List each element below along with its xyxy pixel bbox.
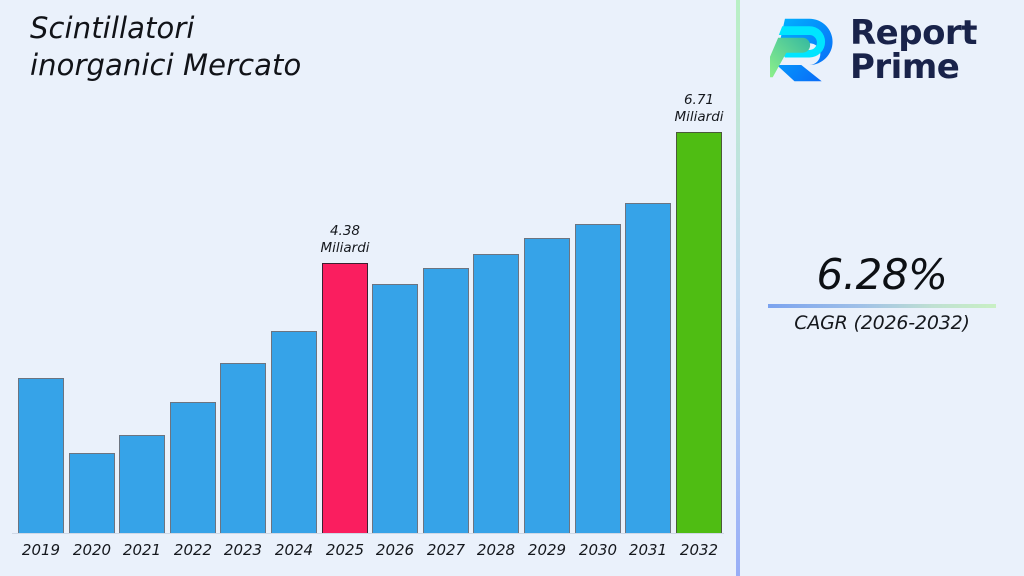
bar-2031[interactable] xyxy=(625,203,671,533)
bar-2024[interactable] xyxy=(271,331,317,533)
bar-2020[interactable] xyxy=(69,453,115,533)
cagr-divider xyxy=(768,304,996,308)
summary-panel: Report Prime 6.28% CAGR (2026-2032) xyxy=(740,0,1024,576)
x-tick-2032: 2032 xyxy=(676,541,722,559)
chart-panel: Scintillatori inorganici Mercato 2019202… xyxy=(0,0,738,576)
x-tick-2022: 2022 xyxy=(170,541,216,559)
report-prime-logo-icon xyxy=(770,14,838,86)
bar-2022[interactable] xyxy=(170,402,216,533)
cagr-block: 6.28% CAGR (2026-2032) xyxy=(760,252,1004,334)
x-tick-2028: 2028 xyxy=(473,541,519,559)
x-tick-2026: 2026 xyxy=(372,541,418,559)
cagr-caption: CAGR (2026-2032) xyxy=(760,312,1004,334)
x-tick-2030: 2030 xyxy=(575,541,621,559)
x-tick-2029: 2029 xyxy=(524,541,570,559)
bar-2028[interactable] xyxy=(473,254,519,533)
x-tick-2025: 2025 xyxy=(322,541,368,559)
x-tick-2021: 2021 xyxy=(119,541,165,559)
bar-chart-plot: 2019202020212022202320244.38 Miliardi202… xyxy=(0,0,738,576)
bar-2025[interactable] xyxy=(322,263,368,533)
bar-value-label-2032: 6.71 Miliardi xyxy=(674,92,723,126)
brand-logo: Report Prime xyxy=(770,14,977,86)
bar-2019[interactable] xyxy=(18,378,64,533)
x-tick-2024: 2024 xyxy=(271,541,317,559)
chart-infographic: Scintillatori inorganici Mercato 2019202… xyxy=(0,0,1024,576)
bar-2027[interactable] xyxy=(423,268,469,533)
x-axis-line xyxy=(12,533,724,534)
bar-2023[interactable] xyxy=(220,363,266,533)
bar-value-label-2025: 4.38 Miliardi xyxy=(320,223,369,257)
bar-2026[interactable] xyxy=(372,284,418,533)
bar-2029[interactable] xyxy=(524,238,570,533)
x-tick-2031: 2031 xyxy=(625,541,671,559)
x-tick-2020: 2020 xyxy=(69,541,115,559)
x-tick-2019: 2019 xyxy=(18,541,64,559)
brand-name: Report Prime xyxy=(850,16,977,84)
bar-2030[interactable] xyxy=(575,224,621,533)
bar-2032[interactable] xyxy=(676,132,722,533)
bar-2021[interactable] xyxy=(119,435,165,533)
x-tick-2023: 2023 xyxy=(220,541,266,559)
cagr-value: 6.28% xyxy=(760,252,1004,298)
x-tick-2027: 2027 xyxy=(423,541,469,559)
